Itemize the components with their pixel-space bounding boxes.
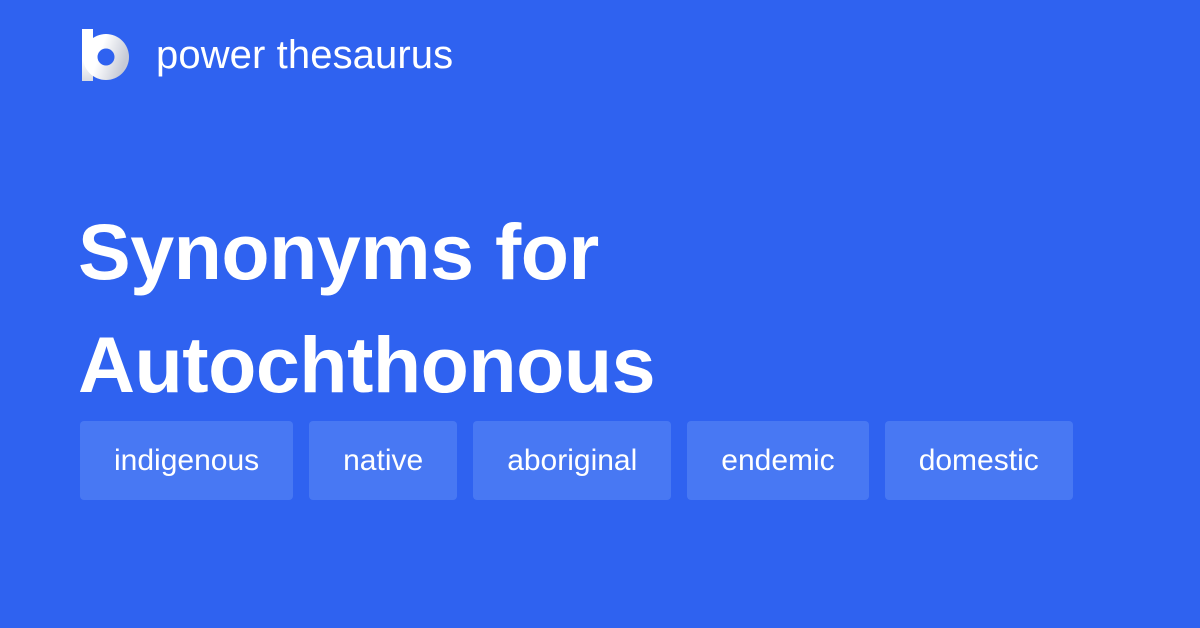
page-title-line-2: Autochthonous — [78, 308, 1118, 421]
synonym-chip[interactable]: endemic — [687, 421, 868, 500]
synonym-chip[interactable]: domestic — [885, 421, 1073, 500]
synonym-chip-label: endemic — [721, 446, 834, 476]
synonym-chip[interactable]: indigenous — [80, 421, 293, 500]
brand-name: power thesaurus — [156, 35, 453, 75]
power-thesaurus-b-logo-icon — [80, 28, 130, 82]
synonym-chip-label: aboriginal — [507, 446, 637, 476]
brand-header[interactable]: power thesaurus — [80, 26, 453, 84]
page-title: Synonyms for Autochthonous — [78, 195, 1118, 421]
synonym-chip-label: domestic — [919, 446, 1039, 476]
synonym-chip-label: indigenous — [114, 446, 259, 476]
synonym-chip-label: native — [343, 446, 423, 476]
synonym-chip[interactable]: aboriginal — [473, 421, 671, 500]
synonym-chip-list: indigenous native aboriginal endemic dom… — [80, 421, 1120, 500]
synonyms-share-card: power thesaurus Synonyms for Autochthono… — [0, 0, 1200, 628]
page-title-line-1: Synonyms for — [78, 195, 1118, 308]
synonym-chip[interactable]: native — [309, 421, 457, 500]
